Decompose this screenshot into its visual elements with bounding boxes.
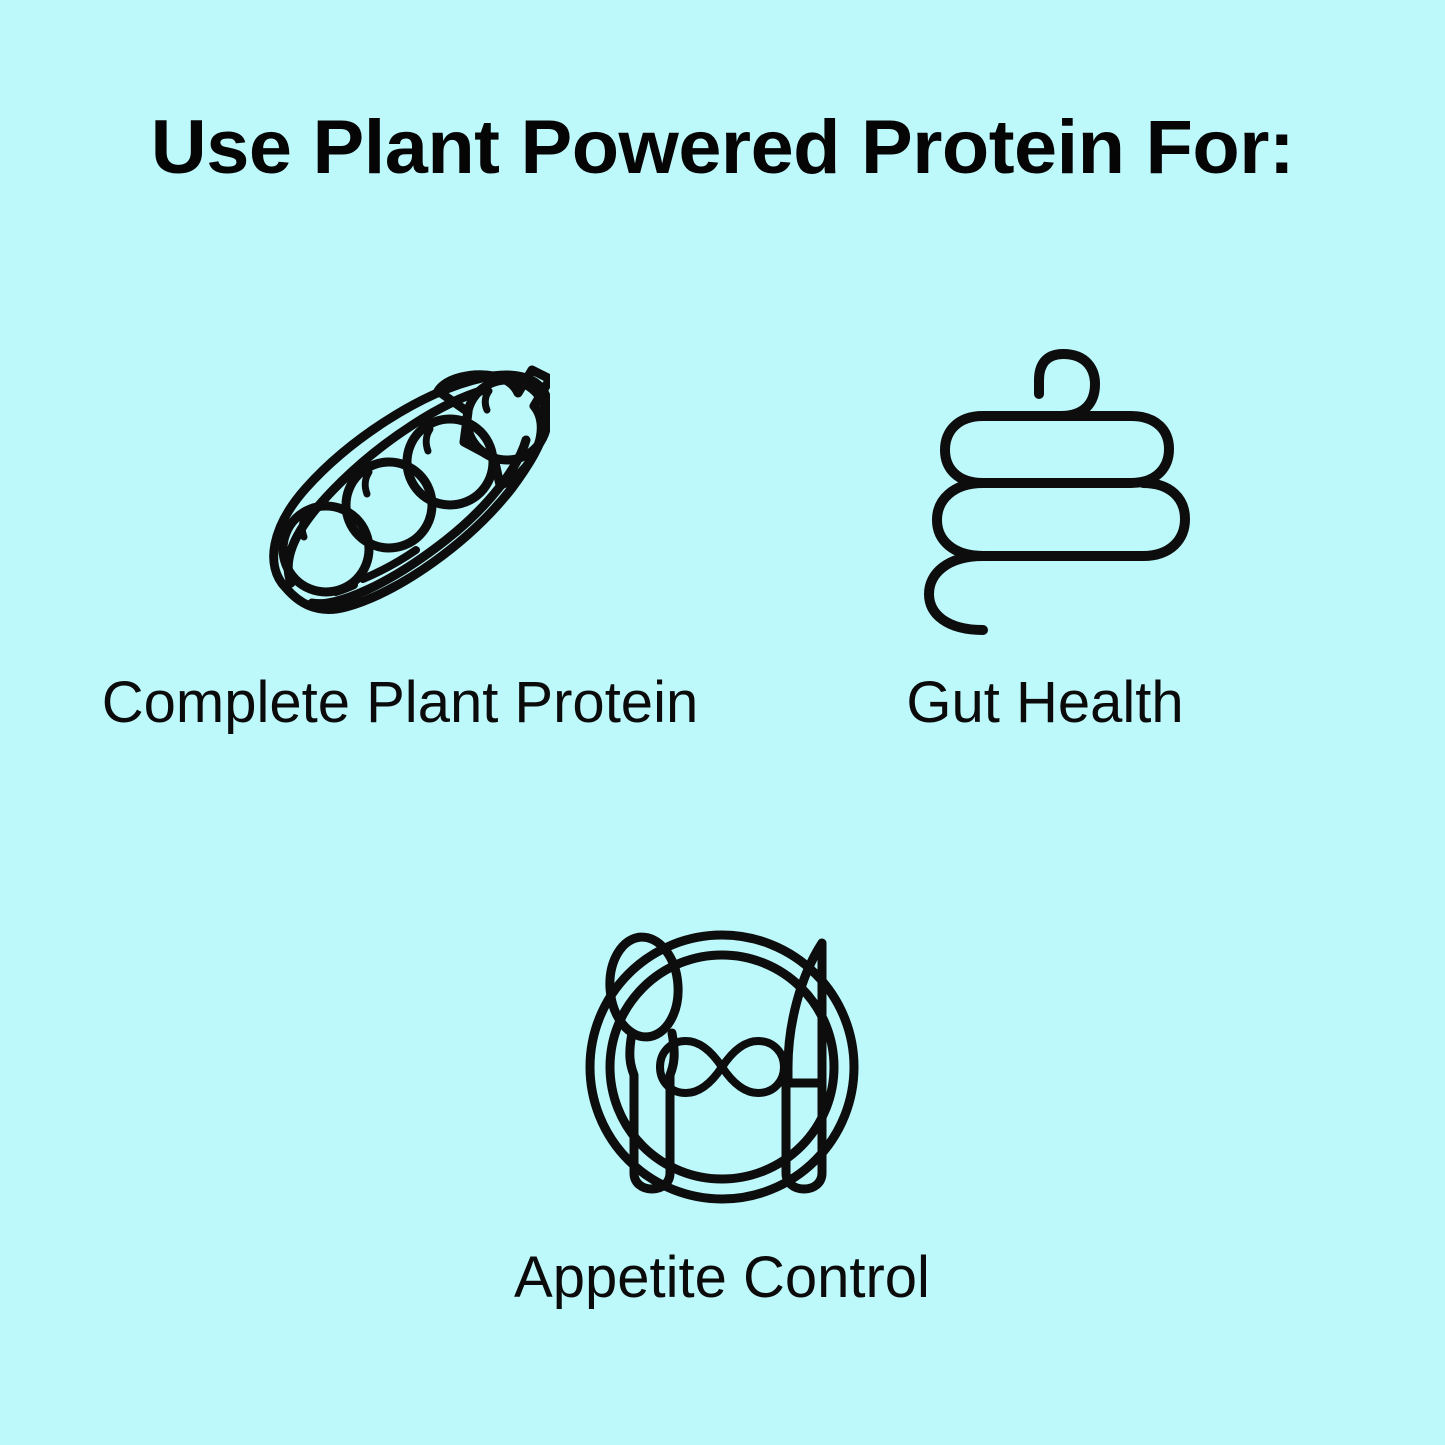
feature-label: Gut Health (906, 666, 1183, 740)
feature-label: Complete Plant Protein (102, 666, 698, 740)
feature-gut-health: Gut Health (745, 340, 1345, 740)
feature-appetite-control: Appetite Control (422, 915, 1022, 1315)
plate-cutlery-infinity-icon (572, 915, 872, 1215)
page-title: Use Plant Powered Protein For: (0, 108, 1445, 188)
benefits-poster: Use Plant Powered Protein For: (0, 0, 1445, 1445)
features-grid: Complete Plant Protein (0, 340, 1445, 1340)
feature-label: Appetite Control (514, 1241, 930, 1315)
intestine-icon (895, 340, 1195, 640)
feature-complete-plant-protein: Complete Plant Protein (100, 340, 700, 740)
pea-pod-icon (250, 340, 550, 640)
